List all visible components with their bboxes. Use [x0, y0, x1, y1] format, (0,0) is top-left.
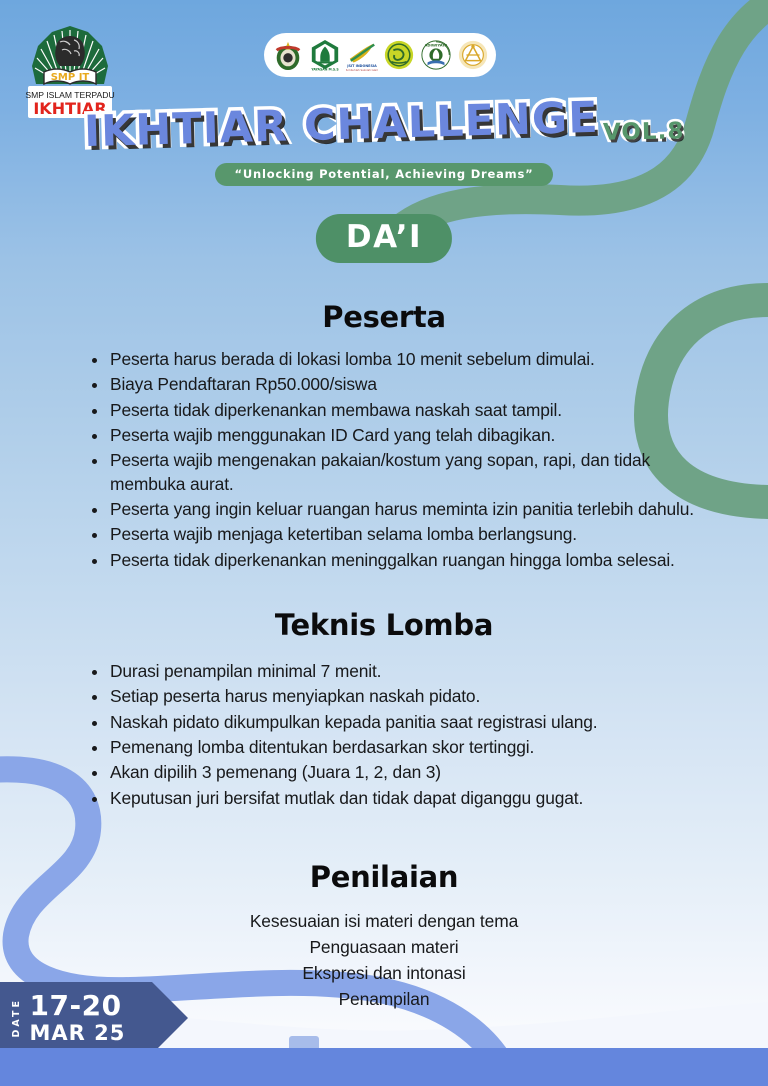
- partner-logos-bar: YAYASAN M.S.S JSIT INDONESIA Tumbuhlah S…: [264, 33, 496, 77]
- tagline-text: “Unlocking Potential, Achieving Dreams”: [215, 163, 554, 186]
- date-ribbon-values: 17-20 MAR 25: [30, 992, 126, 1044]
- list-item: Akan dipilih 3 pemenang (Juara 1, 2, dan…: [88, 761, 720, 784]
- peserta-rules-list: Peserta harus berada di lokasi lomba 10 …: [88, 348, 720, 574]
- partner-logo-6-icon: [457, 38, 489, 72]
- list-item: Peserta tidak diperkenankan membawa nask…: [88, 399, 720, 422]
- date-days: 17-20: [30, 992, 126, 1020]
- svg-text:YAYASAN M.S.S: YAYASAN M.S.S: [310, 68, 339, 72]
- list-item: Peserta wajib mengenakan pakaian/kostum …: [88, 449, 720, 496]
- list-item: Pemenang lomba ditentukan berdasarkan sk…: [88, 736, 720, 759]
- brain-icon: [55, 36, 85, 66]
- list-item: Peserta harus berada di lokasi lomba 10 …: [88, 348, 720, 371]
- list-item: Peserta yang ingin keluar ruangan harus …: [88, 498, 720, 521]
- logo-smpit-text: SMP IT: [51, 72, 90, 83]
- list-item: Peserta wajib menjaga ketertiban selama …: [88, 523, 720, 546]
- partner-logo-1-icon: [272, 38, 304, 72]
- date-ribbon: DATE 17-20 MAR 25: [0, 982, 188, 1054]
- partner-logo-2-icon: YAYASAN M.S.S: [309, 38, 341, 72]
- list-item: Kesesuaian isi materi dengan tema: [0, 908, 768, 934]
- list-item: Peserta wajib menggunakan ID Card yang t…: [88, 424, 720, 447]
- list-item: Peserta tidak diperkenankan meninggalkan…: [88, 549, 720, 572]
- partner-logo-3-icon: JSIT INDONESIA Tumbuhlah Sekolah Islam: [346, 38, 378, 72]
- poster-canvas: SMP IT SMP ISLAM TERPADU IKHTIAR YAYASAN…: [0, 0, 768, 1086]
- section-heading-peserta: Peserta: [0, 300, 768, 334]
- teknis-lomba-rules-list: Durasi penampilan minimal 7 menit. Setia…: [88, 660, 720, 812]
- svg-text:Tumbuhlah Sekolah Islam: Tumbuhlah Sekolah Islam: [346, 68, 378, 72]
- list-item: Naskah pidato dikumpulkan kepada panitia…: [88, 711, 720, 734]
- tagline-banner: “Unlocking Potential, Achieving Dreams”: [0, 163, 768, 186]
- event-title-block: IKHTIAR CHALLENGE VOL.8: [0, 104, 768, 204]
- category-badge-label: DA’I: [346, 219, 422, 255]
- svg-text:ADIWIYATA: ADIWIYATA: [424, 44, 447, 48]
- list-item: Setiap peserta harus menyiapkan naskah p…: [88, 685, 720, 708]
- event-title: IKHTIAR CHALLENGE: [83, 97, 599, 154]
- bottom-bar: [0, 1048, 768, 1086]
- date-ribbon-label: DATE: [12, 998, 22, 1037]
- svg-text:JSIT INDONESIA: JSIT INDONESIA: [346, 64, 377, 68]
- list-item: Durasi penampilan minimal 7 menit.: [88, 660, 720, 683]
- logo-sunburst-icon: SMP IT: [32, 26, 108, 84]
- list-item: Biaya Pendaftaran Rp50.000/siswa: [88, 373, 720, 396]
- partner-logo-4-icon: [383, 38, 415, 72]
- event-volume: VOL.8: [603, 120, 685, 144]
- list-item: Keputusan juri bersifat mutlak dan tidak…: [88, 787, 720, 810]
- category-badge: DA’I: [316, 214, 452, 263]
- partner-logo-5-icon: ADIWIYATA: [420, 38, 452, 72]
- date-month-year: MAR 25: [30, 1023, 126, 1044]
- section-heading-teknis-lomba: Teknis Lomba: [0, 608, 768, 642]
- list-item: Penguasaan materi: [0, 934, 768, 960]
- section-heading-penilaian: Penilaian: [0, 860, 768, 894]
